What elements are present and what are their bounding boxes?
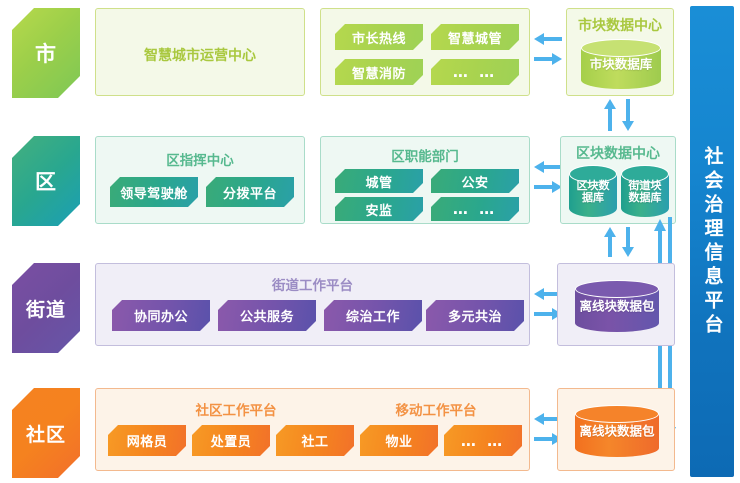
arrow-city-dc-to-district-dc <box>600 97 640 133</box>
dept-urban-management[interactable]: 城管 <box>335 169 423 193</box>
platform-banner: 社会治理信息平台 <box>690 6 734 477</box>
street-collaborative-office[interactable]: 协同办公 <box>112 300 210 331</box>
district-command-center-title: 区指挥中心 <box>96 149 304 169</box>
cylinder-top <box>575 280 659 298</box>
level-badge-street: 街道 <box>12 263 80 353</box>
role-handler[interactable]: 处置员 <box>192 425 270 456</box>
role-more[interactable]: … … <box>444 425 522 456</box>
cylinder-community-offline-pack-label: 离线块数据包 <box>575 425 659 439</box>
arrow-city-apps-to-dc <box>532 30 564 72</box>
datacenter-city[interactable]: 市块数据中心 市块数据库 <box>566 8 674 96</box>
district-departments-title: 区职能部门 <box>321 145 529 165</box>
level-badge-district: 区 <box>12 136 80 226</box>
district-dispatch-platform[interactable]: 分拨平台 <box>206 177 294 207</box>
role-social-worker[interactable]: 社工 <box>276 425 354 456</box>
cylinder-community-offline-pack[interactable]: 离线块数据包 <box>575 405 659 457</box>
community-work-platform-title: 社区工作平台 <box>96 399 376 419</box>
datacenter-district-title: 区块数据中心 <box>561 143 675 163</box>
street-comprehensive-governance[interactable]: 综治工作 <box>324 300 422 331</box>
street-public-service[interactable]: 公共服务 <box>218 300 316 331</box>
mobile-work-platform-title: 移动工作平台 <box>336 399 536 419</box>
level-badge-community: 社区 <box>12 388 80 478</box>
role-property-management[interactable]: 物业 <box>360 425 438 456</box>
cylinder-street-block-db[interactable]: 街道块 数据库 <box>621 165 669 217</box>
cylinder-city-db[interactable]: 市块数据库 <box>581 39 661 89</box>
platform-banner-label: 社会治理信息平台 <box>703 146 722 338</box>
cylinder-city-db-label: 市块数据库 <box>581 58 661 72</box>
cylinder-top <box>575 405 659 423</box>
cylinder-street-block-db-label: 街道块 数据库 <box>621 180 669 205</box>
panel-district-departments[interactable]: 区职能部门 城管 公安 安监 … … <box>320 136 530 224</box>
app-city-smart-firefighting[interactable]: 智慧消防 <box>335 59 423 85</box>
architecture-diagram: 市 智慧城市运营中心 市长热线 智慧城管 智慧消防 … … 市块数据中心 市块数… <box>0 0 740 483</box>
app-city-smart-urban-mgmt[interactable]: 智慧城管 <box>431 24 519 50</box>
level-badge-street-label: 街道 <box>26 295 66 322</box>
cylinder-street-offline-pack[interactable]: 离线块数据包 <box>575 280 659 332</box>
district-leader-cockpit[interactable]: 领导驾驶舱 <box>110 177 198 207</box>
datacenter-street[interactable]: 离线块数据包 <box>557 263 675 346</box>
cylinder-top <box>581 39 661 57</box>
datacenter-community[interactable]: 离线块数据包 <box>557 388 675 471</box>
app-city-more[interactable]: … … <box>431 59 519 85</box>
cylinder-district-db[interactable]: 区块数 据库 <box>569 165 617 217</box>
level-badge-district-label: 区 <box>35 166 57 196</box>
datacenter-district[interactable]: 区块数据中心 区块数 据库 街道块 数据库 <box>560 136 676 224</box>
panel-community-work-platform[interactable]: 社区工作平台 移动工作平台 网格员 处置员 社工 物业 … … <box>95 388 530 471</box>
arrow-district-dc-up-down <box>600 225 640 259</box>
dept-more[interactable]: … … <box>431 197 519 221</box>
panel-city-operation-center[interactable]: 智慧城市运营中心 <box>95 8 305 96</box>
cyl-line-2: 据库 <box>569 192 617 204</box>
street-multi-party-governance[interactable]: 多元共治 <box>426 300 524 331</box>
datacenter-city-title: 市块数据中心 <box>567 15 673 35</box>
level-badge-city: 市 <box>12 8 80 98</box>
role-grid-member[interactable]: 网格员 <box>108 425 186 456</box>
city-operation-center-title: 智慧城市运营中心 <box>96 45 304 65</box>
panel-street-work-platform[interactable]: 街道工作平台 协同办公 公共服务 综治工作 多元共治 <box>95 263 530 346</box>
dept-public-security[interactable]: 公安 <box>431 169 519 193</box>
panel-city-apps[interactable]: 市长热线 智慧城管 智慧消防 … … <box>320 8 530 96</box>
app-city-mayor-hotline[interactable]: 市长热线 <box>335 24 423 50</box>
dept-work-safety[interactable]: 安监 <box>335 197 423 221</box>
level-badge-community-label: 社区 <box>26 420 66 447</box>
cyl-line-2: 数据库 <box>621 192 669 204</box>
street-work-platform-title: 街道工作平台 <box>96 274 529 294</box>
panel-district-command-center[interactable]: 区指挥中心 领导驾驶舱 分拨平台 <box>95 136 305 224</box>
level-badge-city-label: 市 <box>35 38 57 68</box>
cylinder-street-offline-pack-label: 离线块数据包 <box>575 300 659 314</box>
cylinder-district-db-label: 区块数 据库 <box>569 180 617 205</box>
